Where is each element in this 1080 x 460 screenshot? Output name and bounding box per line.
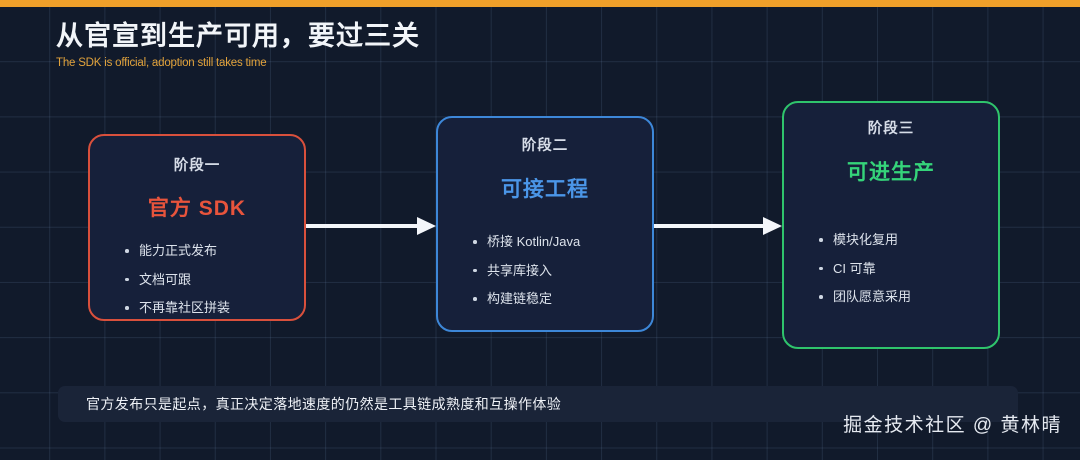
heading-block: 从官宣到生产可用，要过三关 The SDK is official, adopt… [56,20,756,69]
flow-arrow-2 [654,215,782,237]
list-item: 构建链稳定 [473,290,634,308]
list-item: CI 可靠 [819,260,980,278]
summary-banner-text: 官方发布只是起点，真正决定落地速度的仍然是工具链成熟度和互操作体验 [86,394,561,414]
list-item: 团队愿意采用 [819,288,980,306]
arrow-head-icon [417,217,436,235]
list-item: 模块化复用 [819,231,980,249]
list-item: 桥接 Kotlin/Java [473,233,634,251]
stage-card-3[interactable]: 阶段三 可进生产 模块化复用 CI 可靠 团队愿意采用 [782,101,1000,349]
stage-card-3-bullets: 模块化复用 CI 可靠 团队愿意采用 [802,231,980,306]
footer-credit: 掘金技术社区 @ 黄林晴 [843,410,1062,437]
stage-card-1[interactable]: 阶段一 官方 SDK 能力正式发布 文档可跟 不再靠社区拼装 [88,134,306,321]
stage-card-2-name: 可接工程 [456,173,634,203]
stage-card-3-name: 可进生产 [802,156,980,186]
list-item: 不再靠社区拼装 [125,299,286,317]
arrow-shaft [654,224,764,228]
stage-card-2-bullets: 桥接 Kotlin/Java 共享库接入 构建链稳定 [456,233,634,308]
list-item: 能力正式发布 [125,242,286,260]
stage-card-3-stage: 阶段三 [802,117,980,138]
list-item: 共享库接入 [473,262,634,280]
top-accent-bar [0,0,1080,7]
flow-arrow-1 [306,215,436,237]
stage-card-1-name: 官方 SDK [108,192,286,222]
arrow-head-icon [763,217,782,235]
stage-card-2-stage: 阶段二 [456,134,634,155]
stage-card-1-stage: 阶段一 [108,154,286,175]
arrow-shaft [306,224,418,228]
stage-card-2[interactable]: 阶段二 可接工程 桥接 Kotlin/Java 共享库接入 构建链稳定 [436,116,654,332]
list-item: 文档可跟 [125,271,286,289]
page-subtitle: The SDK is official, adoption still take… [56,57,756,69]
page-title: 从官宣到生产可用，要过三关 [56,20,756,54]
slide-canvas: 从官宣到生产可用，要过三关 The SDK is official, adopt… [0,0,1080,460]
stage-card-1-bullets: 能力正式发布 文档可跟 不再靠社区拼装 [108,242,286,317]
